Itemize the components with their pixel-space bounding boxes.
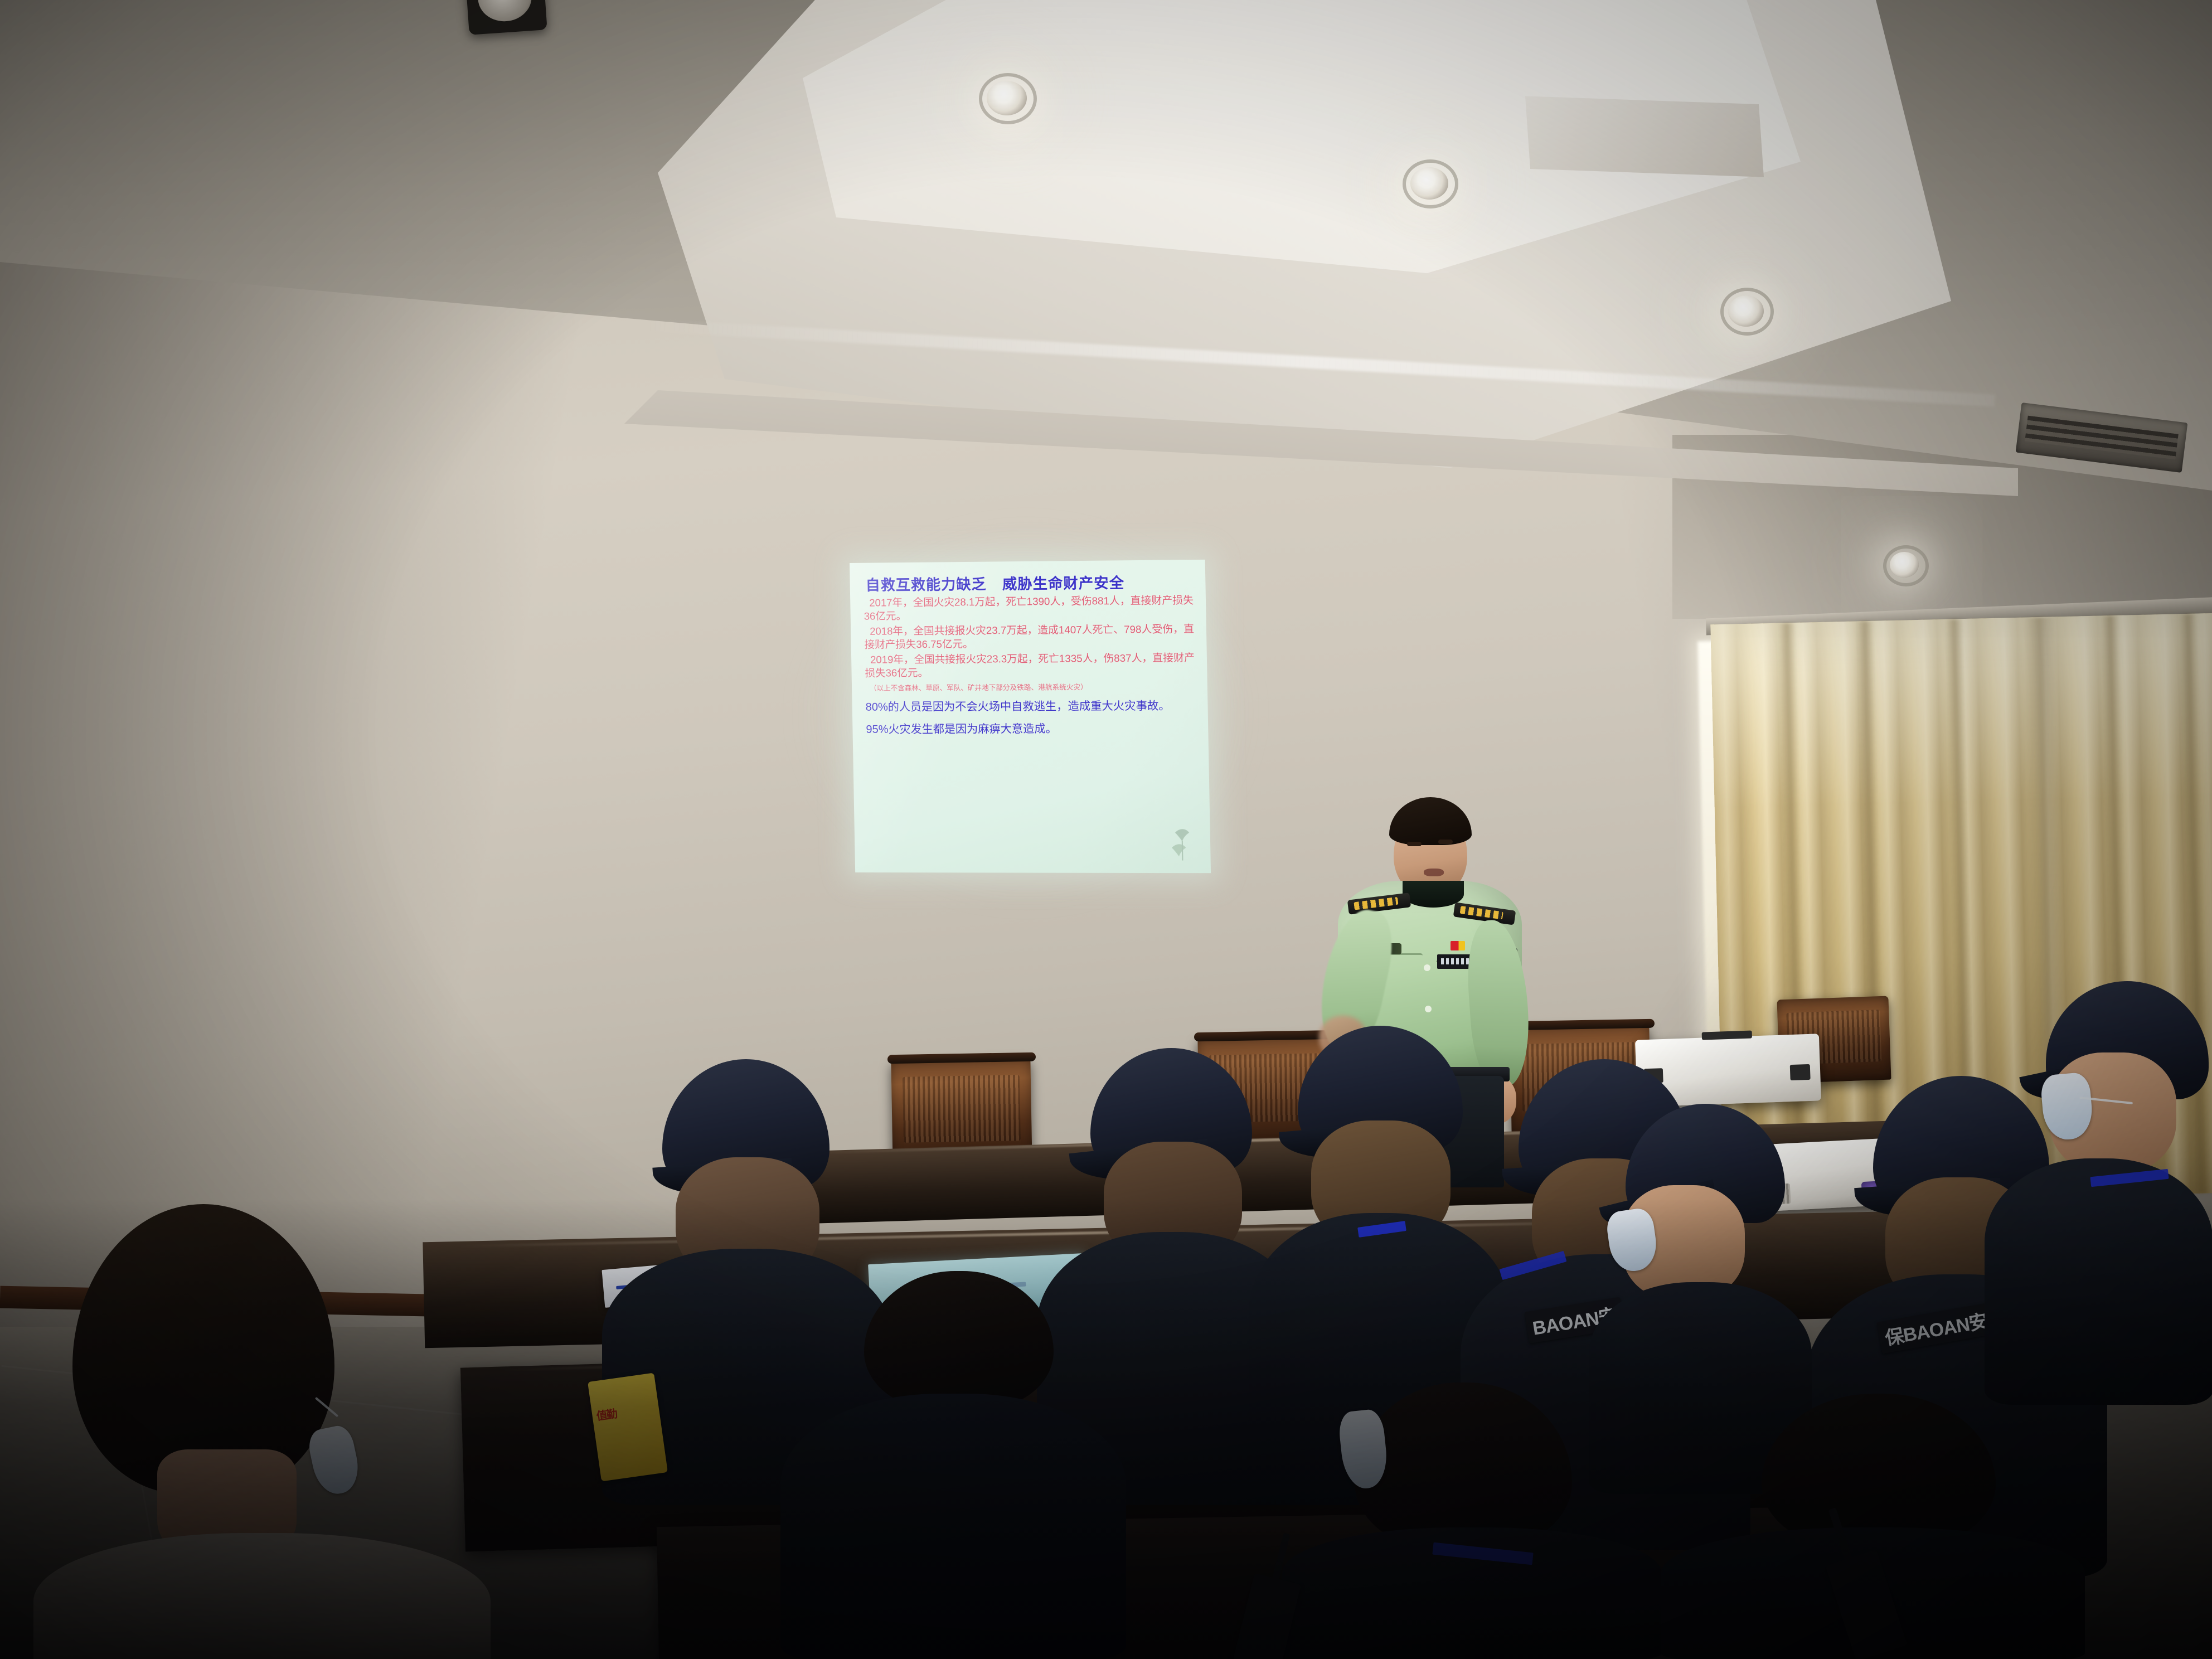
shirt-button-icon [1425, 1006, 1432, 1012]
downlight-ring [979, 73, 1037, 124]
slide-title-right: 威胁生命财产安全 [1002, 575, 1125, 593]
presenter-eye-icon [1438, 840, 1453, 844]
audience-member-foreground [33, 1187, 491, 1659]
slide-highlight-2: 95%火灾发生都是因为麻痹大意造成。 [866, 722, 1198, 738]
audience-hair-icon [1762, 1394, 1996, 1550]
foreground-torso [33, 1533, 491, 1659]
slide-title-left: 自救互救能力缺乏 [865, 576, 987, 594]
downlight-ring [1883, 545, 1929, 586]
armband-text: 值勤 [595, 1405, 618, 1424]
audience-hair-icon [864, 1271, 1054, 1410]
left-wall-shadow [0, 167, 641, 1338]
decorative-leaf-icon [1165, 826, 1201, 866]
slide-stat-2017: 2017年，全国火灾28.1万起，死亡1390人，受伤881人，直接财产损失36… [864, 594, 1196, 623]
audience-member-masked [1985, 981, 2212, 1405]
audience-torso [1985, 1158, 2212, 1405]
flag-pin-icon [1451, 941, 1465, 950]
slide-stat-2019: 2019年，全国共接报火灾23.3万起，死亡1335人，伤837人，直接财产损失… [865, 651, 1197, 680]
audience-torso [780, 1394, 1126, 1659]
photo-scene: 自救互救能力缺乏威胁生命财产安全 2017年，全国火灾28.1万起，死亡1390… [0, 0, 2212, 1659]
ceiling-slot-detail [1525, 96, 1764, 177]
case-handle [1702, 1030, 1752, 1040]
ceiling-speaker-icon [465, 0, 547, 35]
audience-hair-icon [1355, 1382, 1572, 1550]
downlight-ring [1720, 288, 1774, 336]
presenter-hair-icon [1389, 797, 1472, 845]
downlight-ring [1403, 159, 1458, 208]
slide-stat-2018: 2018年，全国共接报火灾23.7万起，造成1407人死亡、798人受伤，直接财… [864, 623, 1196, 652]
slide-highlight-1: 80%的人员是因为不会火场中自救逃生，造成重大火灾事故。 [866, 699, 1198, 715]
presenter-eye-icon [1407, 842, 1422, 846]
audience-member-masked [1282, 1382, 1661, 1659]
face-mask-icon [305, 1423, 363, 1498]
shirt-button-icon [1424, 964, 1430, 971]
projected-slide: 自救互救能力缺乏威胁生命财产安全 2017年，全国火灾28.1万起，死亡1390… [850, 560, 1211, 873]
slide-title: 自救互救能力缺乏威胁生命财产安全 [865, 571, 1195, 594]
presenter-mouth-icon [1424, 869, 1444, 876]
slide-footnote: （以上不含森林、草原、军队、矿井地下部分及铁路、港航系统火灾） [870, 683, 1197, 693]
duty-armband[interactable]: 值勤 [588, 1373, 668, 1482]
audience-member [780, 1271, 1126, 1659]
